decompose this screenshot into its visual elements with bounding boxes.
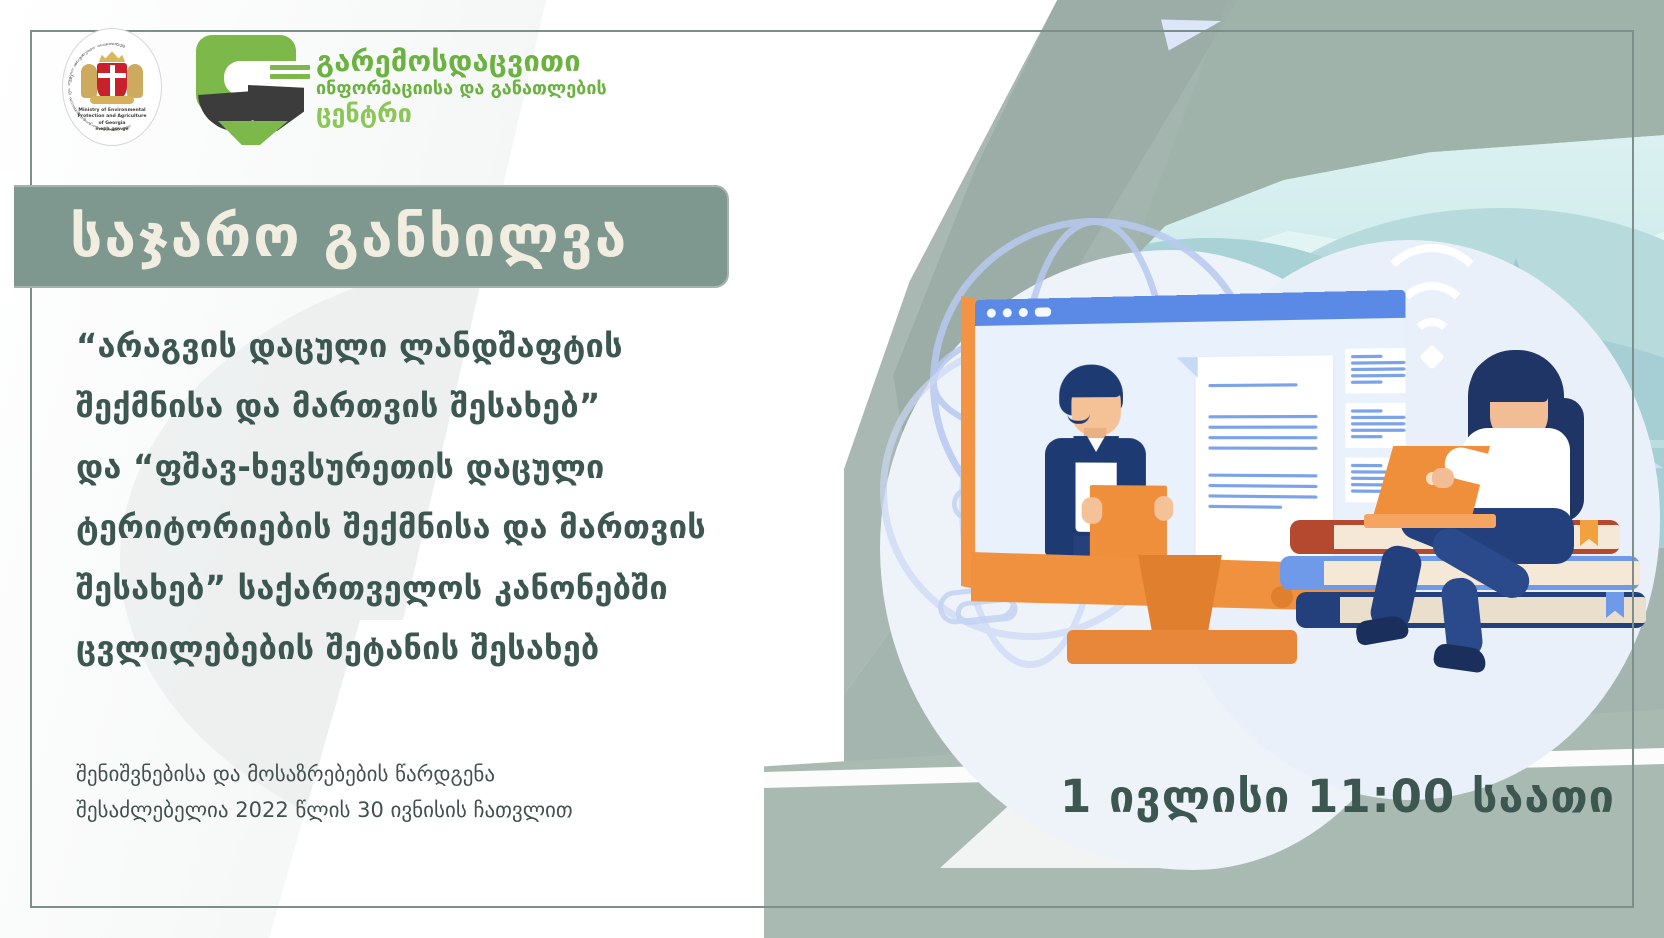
headline-line: შესახებ” საქართველოს კანონებში (76, 558, 716, 618)
seal-caption-line4: mepa.gov.ge (95, 127, 128, 132)
poster-canvas: საქართველოს გარემოს დაცვისა და სოფლის მე… (0, 0, 1664, 938)
seal-caption: Ministry of Environmental Protection and… (63, 108, 161, 133)
coat-of-arms-icon (81, 50, 143, 114)
center-logo-line3: ცენტრი (316, 100, 607, 128)
center-logo-line1: გარემოსდაცვითი (316, 46, 607, 78)
title-banner: საჯარო განხილვა (0, 185, 729, 288)
submission-note: შენიშვნებისა და მოსაზრებების წარდგენა შე… (76, 756, 716, 828)
note-line: შესაძლებელია 2022 წლის 30 ივნისის ჩათვლი… (76, 792, 716, 828)
event-datetime: 1 ივლისი 11:00 საათი (1060, 770, 1580, 823)
seal-caption-line3: of Georgia (98, 121, 125, 126)
headline-line: “არაგვის დაცული ლანდშაფტის (76, 316, 716, 376)
center-logo-mark-icon (196, 35, 304, 139)
headline-line: ტერიტორიების შექმნისა და მართვის (76, 497, 716, 557)
center-logo: გარემოსდაცვითი ინფორმაციისა და განათლები… (196, 35, 607, 139)
note-line: შენიშვნებისა და მოსაზრებების წარდგენა (76, 756, 716, 792)
seal-caption-line2: Protection and Agriculture (78, 114, 147, 119)
seal-caption-line1: Ministry of Environmental (78, 108, 145, 113)
center-logo-line2: ინფორმაციისა და განათლების (316, 79, 607, 99)
center-logo-text: გარემოსდაცვითი ინფორმაციისა და განათლები… (316, 46, 607, 127)
headline-block: “არაგვის დაცული ლანდშაფტის შექმნისა და მ… (76, 316, 716, 679)
banner-left-tab (0, 172, 14, 302)
headline-line: შექმნისა და მართვის შესახებ” (76, 376, 716, 436)
headline-line: და “ფშავ-ხევსურეთის დაცული (76, 437, 716, 497)
headline-line: ცვლილებების შეტანის შესახებ (76, 618, 716, 678)
logo-row: საქართველოს გარემოს დაცვისა და სოფლის მე… (62, 28, 607, 146)
page-title: საჯარო განხილვა (70, 204, 628, 270)
ministry-seal: საქართველოს გარემოს დაცვისა და სოფლის მე… (62, 28, 162, 146)
